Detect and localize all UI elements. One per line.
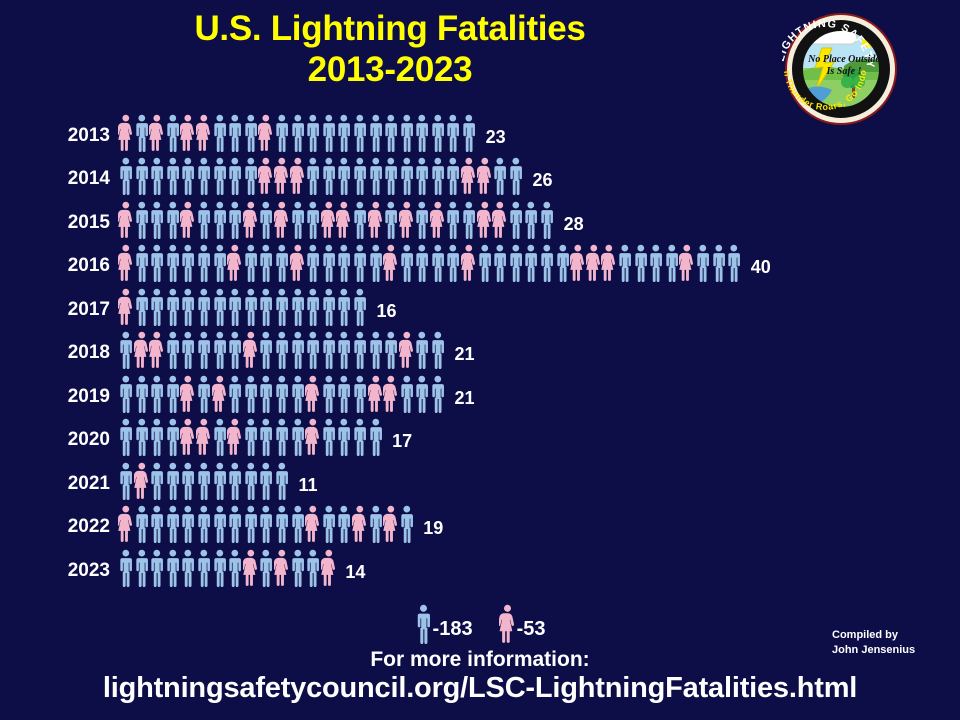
male-figure-icon bbox=[352, 114, 368, 152]
male-figure-icon bbox=[134, 549, 150, 587]
male-figure-icon bbox=[617, 244, 633, 282]
female-figure-icon bbox=[601, 244, 617, 282]
chart-row: 202219 bbox=[0, 500, 960, 544]
figure-group bbox=[118, 199, 555, 239]
male-figure-icon bbox=[258, 505, 274, 543]
male-figure-icon bbox=[134, 157, 150, 195]
male-figure-icon bbox=[118, 549, 134, 587]
male-figure-icon bbox=[695, 244, 711, 282]
male-figure-icon bbox=[149, 549, 165, 587]
female-figure-icon bbox=[461, 244, 477, 282]
row-total: 14 bbox=[336, 563, 365, 587]
male-figure-icon bbox=[258, 331, 274, 369]
male-figure-icon bbox=[321, 418, 337, 456]
male-figure-icon bbox=[227, 549, 243, 587]
male-figure-icon bbox=[165, 244, 181, 282]
male-figure-icon bbox=[274, 288, 290, 326]
figure-group bbox=[118, 547, 336, 587]
male-figure-icon bbox=[227, 331, 243, 369]
male-figure-icon bbox=[508, 157, 524, 195]
male-figure-icon bbox=[321, 288, 337, 326]
male-figure-icon bbox=[383, 331, 399, 369]
female-figure-icon bbox=[321, 201, 337, 239]
male-figure-icon bbox=[274, 462, 290, 500]
chart-row: 201528 bbox=[0, 195, 960, 239]
male-figure-icon bbox=[368, 114, 384, 152]
male-figure-icon bbox=[243, 114, 259, 152]
male-figure-icon bbox=[274, 375, 290, 413]
female-figure-icon bbox=[290, 244, 306, 282]
male-figure-icon bbox=[492, 244, 508, 282]
male-figure-icon bbox=[399, 505, 415, 543]
female-figure-icon bbox=[118, 505, 134, 543]
male-figure-icon bbox=[212, 114, 228, 152]
male-figure-icon bbox=[290, 549, 306, 587]
male-figure-icon bbox=[336, 288, 352, 326]
row-total: 21 bbox=[445, 345, 474, 369]
male-figure-icon bbox=[196, 244, 212, 282]
row-total: 28 bbox=[555, 215, 584, 239]
figure-group bbox=[118, 329, 445, 369]
male-figure-icon bbox=[726, 244, 742, 282]
male-figure-icon bbox=[243, 418, 259, 456]
male-figure-icon bbox=[633, 244, 649, 282]
female-figure-icon bbox=[227, 418, 243, 456]
male-figure-icon bbox=[227, 505, 243, 543]
male-figure-icon bbox=[430, 331, 446, 369]
male-figure-icon bbox=[118, 157, 134, 195]
male-figure-icon bbox=[196, 157, 212, 195]
male-figure-icon bbox=[414, 201, 430, 239]
website-url[interactable]: lightningsafetycouncil.org/LSC-Lightning… bbox=[0, 672, 960, 705]
male-figure-icon bbox=[305, 549, 321, 587]
chart-row: 201426 bbox=[0, 152, 960, 196]
male-figure-icon bbox=[336, 375, 352, 413]
male-figure-icon bbox=[383, 201, 399, 239]
male-figure-icon bbox=[290, 331, 306, 369]
female-figure-icon bbox=[383, 505, 399, 543]
row-total: 11 bbox=[290, 476, 318, 500]
year-label: 2019 bbox=[0, 387, 118, 413]
male-figure-icon bbox=[180, 331, 196, 369]
female-figure-icon bbox=[180, 114, 196, 152]
male-figure-icon bbox=[243, 244, 259, 282]
male-figure-icon bbox=[212, 244, 228, 282]
female-figure-icon bbox=[352, 505, 368, 543]
male-figure-icon bbox=[336, 157, 352, 195]
female-figure-icon bbox=[399, 201, 415, 239]
figure-group bbox=[118, 503, 414, 543]
female-figure-icon bbox=[258, 157, 274, 195]
male-figure-icon bbox=[212, 418, 228, 456]
male-figure-icon bbox=[134, 505, 150, 543]
year-label: 2021 bbox=[0, 474, 118, 500]
male-figure-icon bbox=[258, 244, 274, 282]
male-figure-icon bbox=[258, 375, 274, 413]
male-figure-icon bbox=[461, 114, 477, 152]
female-figure-icon bbox=[477, 201, 493, 239]
male-figure-icon bbox=[196, 288, 212, 326]
male-figure-icon bbox=[180, 157, 196, 195]
legend-item-male: -183 bbox=[415, 604, 473, 644]
male-figure-icon bbox=[399, 244, 415, 282]
female-figure-icon bbox=[274, 157, 290, 195]
female-figure-icon bbox=[477, 157, 493, 195]
male-figure-icon bbox=[290, 418, 306, 456]
male-figure-icon bbox=[290, 114, 306, 152]
row-total: 21 bbox=[445, 389, 474, 413]
male-figure-icon bbox=[539, 244, 555, 282]
male-figure-icon bbox=[134, 201, 150, 239]
female-figure-icon bbox=[118, 288, 134, 326]
male-figure-icon bbox=[430, 114, 446, 152]
female-figure-icon bbox=[679, 244, 695, 282]
chart-row: 202111 bbox=[0, 456, 960, 500]
figure-group bbox=[118, 155, 523, 195]
male-figure-icon bbox=[492, 157, 508, 195]
female-figure-icon bbox=[149, 114, 165, 152]
row-total: 23 bbox=[477, 128, 506, 152]
male-figure-icon bbox=[212, 549, 228, 587]
male-figure-icon bbox=[149, 201, 165, 239]
female-figure-icon bbox=[499, 604, 516, 644]
male-figure-icon bbox=[227, 288, 243, 326]
male-figure-icon bbox=[368, 505, 384, 543]
male-figure-icon bbox=[227, 114, 243, 152]
male-figure-icon bbox=[212, 331, 228, 369]
female-figure-icon bbox=[305, 418, 321, 456]
female-figure-icon bbox=[274, 549, 290, 587]
male-figure-icon bbox=[368, 418, 384, 456]
male-figure-icon bbox=[414, 244, 430, 282]
male-figure-icon bbox=[165, 157, 181, 195]
male-figure-icon bbox=[383, 114, 399, 152]
female-figure-icon bbox=[134, 462, 150, 500]
male-figure-icon bbox=[352, 331, 368, 369]
male-figure-icon bbox=[212, 505, 228, 543]
legend-male-label: -183 bbox=[432, 619, 473, 644]
male-figure-icon bbox=[399, 114, 415, 152]
female-figure-icon bbox=[258, 114, 274, 152]
male-figure-icon bbox=[118, 418, 134, 456]
female-figure-icon bbox=[305, 505, 321, 543]
male-figure-icon bbox=[477, 244, 493, 282]
male-figure-icon bbox=[227, 462, 243, 500]
female-figure-icon bbox=[180, 375, 196, 413]
male-figure-icon bbox=[321, 505, 337, 543]
year-label: 2015 bbox=[0, 213, 118, 239]
male-figure-icon bbox=[274, 244, 290, 282]
female-figure-icon bbox=[399, 331, 415, 369]
female-figure-icon bbox=[196, 114, 212, 152]
male-figure-icon bbox=[149, 462, 165, 500]
figure-group bbox=[118, 242, 742, 282]
male-figure-icon bbox=[430, 157, 446, 195]
male-figure-icon bbox=[180, 244, 196, 282]
male-figure-icon bbox=[445, 157, 461, 195]
male-figure-icon bbox=[336, 331, 352, 369]
male-figure-icon bbox=[305, 331, 321, 369]
male-figure-icon bbox=[321, 244, 337, 282]
male-figure-icon bbox=[352, 201, 368, 239]
year-label: 2020 bbox=[0, 430, 118, 456]
male-figure-icon bbox=[414, 157, 430, 195]
male-figure-icon bbox=[118, 375, 134, 413]
female-figure-icon bbox=[321, 549, 337, 587]
male-figure-icon bbox=[180, 549, 196, 587]
female-figure-icon bbox=[243, 201, 259, 239]
male-figure-icon bbox=[290, 288, 306, 326]
male-figure-icon bbox=[555, 244, 571, 282]
male-figure-icon bbox=[149, 375, 165, 413]
female-figure-icon bbox=[180, 201, 196, 239]
male-figure-icon bbox=[165, 418, 181, 456]
male-figure-icon bbox=[243, 462, 259, 500]
male-figure-icon bbox=[134, 375, 150, 413]
chart-row: 201716 bbox=[0, 282, 960, 326]
male-figure-icon bbox=[165, 288, 181, 326]
male-figure-icon bbox=[399, 157, 415, 195]
female-figure-icon bbox=[196, 418, 212, 456]
pictogram-chart: 2013232014262015282016402017162018212019… bbox=[0, 108, 960, 587]
male-figure-icon bbox=[196, 331, 212, 369]
male-figure-icon bbox=[414, 114, 430, 152]
female-figure-icon bbox=[212, 375, 228, 413]
male-figure-icon bbox=[290, 201, 306, 239]
male-figure-icon bbox=[227, 375, 243, 413]
female-figure-icon bbox=[368, 375, 384, 413]
male-figure-icon bbox=[321, 157, 337, 195]
year-label: 2023 bbox=[0, 561, 118, 587]
row-total: 19 bbox=[414, 519, 443, 543]
male-figure-icon bbox=[227, 157, 243, 195]
male-figure-icon bbox=[368, 331, 384, 369]
male-figure-icon bbox=[523, 244, 539, 282]
male-figure-icon bbox=[149, 244, 165, 282]
male-figure-icon bbox=[414, 331, 430, 369]
figure-group bbox=[118, 286, 368, 326]
male-figure-icon bbox=[368, 244, 384, 282]
male-figure-icon bbox=[352, 157, 368, 195]
male-figure-icon bbox=[461, 201, 477, 239]
male-figure-icon bbox=[134, 288, 150, 326]
row-total: 16 bbox=[368, 302, 397, 326]
row-total: 40 bbox=[742, 258, 771, 282]
female-figure-icon bbox=[570, 244, 586, 282]
male-figure-icon bbox=[212, 201, 228, 239]
figure-group bbox=[118, 373, 445, 413]
male-figure-icon bbox=[134, 418, 150, 456]
female-figure-icon bbox=[180, 418, 196, 456]
male-figure-icon bbox=[336, 114, 352, 152]
male-figure-icon bbox=[664, 244, 680, 282]
female-figure-icon bbox=[492, 201, 508, 239]
male-figure-icon bbox=[321, 375, 337, 413]
year-label: 2018 bbox=[0, 343, 118, 369]
female-figure-icon bbox=[461, 157, 477, 195]
female-figure-icon bbox=[586, 244, 602, 282]
male-figure-icon bbox=[196, 549, 212, 587]
male-figure-icon bbox=[227, 201, 243, 239]
female-figure-icon bbox=[336, 201, 352, 239]
female-figure-icon bbox=[274, 201, 290, 239]
male-figure-icon bbox=[212, 157, 228, 195]
male-figure-icon bbox=[149, 418, 165, 456]
male-figure-icon bbox=[243, 288, 259, 326]
row-total: 17 bbox=[383, 432, 412, 456]
chart-row: 201921 bbox=[0, 369, 960, 413]
row-total: 26 bbox=[523, 171, 552, 195]
title-line-1: U.S. Lightning Fatalities bbox=[194, 9, 585, 48]
male-figure-icon bbox=[196, 505, 212, 543]
year-label: 2022 bbox=[0, 517, 118, 543]
chart-row: 201821 bbox=[0, 326, 960, 370]
male-figure-icon bbox=[414, 375, 430, 413]
title-line-2: 2013-2023 bbox=[0, 49, 780, 90]
chart-row: 202314 bbox=[0, 543, 960, 587]
logo-inner-text-1: No Place Outside bbox=[807, 54, 880, 65]
male-figure-icon bbox=[274, 114, 290, 152]
male-figure-icon bbox=[305, 201, 321, 239]
male-figure-icon bbox=[165, 201, 181, 239]
male-figure-icon bbox=[243, 157, 259, 195]
male-figure-icon bbox=[290, 375, 306, 413]
year-label: 2016 bbox=[0, 256, 118, 282]
credit-block: Compiled by John Jensenius bbox=[832, 628, 942, 658]
male-figure-icon bbox=[243, 505, 259, 543]
male-figure-icon bbox=[336, 244, 352, 282]
male-figure-icon bbox=[430, 375, 446, 413]
chart-row: 202017 bbox=[0, 413, 960, 457]
logo-inner-text-2: Is Safe ! bbox=[825, 66, 861, 77]
male-figure-icon bbox=[352, 375, 368, 413]
male-figure-icon bbox=[445, 201, 461, 239]
male-figure-icon bbox=[180, 462, 196, 500]
female-figure-icon bbox=[305, 375, 321, 413]
male-figure-icon bbox=[274, 331, 290, 369]
male-figure-icon bbox=[134, 114, 150, 152]
female-figure-icon bbox=[383, 375, 399, 413]
male-figure-icon bbox=[383, 157, 399, 195]
male-figure-icon bbox=[165, 549, 181, 587]
male-figure-icon bbox=[274, 505, 290, 543]
year-label: 2017 bbox=[0, 300, 118, 326]
female-figure-icon bbox=[368, 201, 384, 239]
female-figure-icon bbox=[134, 331, 150, 369]
footer: For more information: lightningsafetycou… bbox=[0, 648, 960, 705]
male-figure-icon bbox=[165, 462, 181, 500]
page-title: U.S. Lightning Fatalities 2013-2023 bbox=[0, 8, 780, 91]
male-figure-icon bbox=[165, 331, 181, 369]
male-figure-icon bbox=[134, 244, 150, 282]
male-figure-icon bbox=[523, 201, 539, 239]
male-figure-icon bbox=[274, 418, 290, 456]
legend-item-female: -53 bbox=[499, 604, 546, 644]
male-figure-icon bbox=[180, 505, 196, 543]
figure-group bbox=[118, 460, 290, 500]
male-figure-icon bbox=[149, 505, 165, 543]
male-figure-icon bbox=[445, 244, 461, 282]
male-figure-icon bbox=[196, 201, 212, 239]
male-figure-icon bbox=[430, 244, 446, 282]
credit-line-1: Compiled by bbox=[832, 628, 942, 643]
male-figure-icon bbox=[305, 288, 321, 326]
male-figure-icon bbox=[118, 462, 134, 500]
male-figure-icon bbox=[180, 288, 196, 326]
male-figure-icon bbox=[165, 505, 181, 543]
male-figure-icon bbox=[352, 244, 368, 282]
female-figure-icon bbox=[118, 201, 134, 239]
female-figure-icon bbox=[243, 549, 259, 587]
year-label: 2014 bbox=[0, 169, 118, 195]
male-figure-icon bbox=[196, 462, 212, 500]
male-figure-icon bbox=[149, 157, 165, 195]
male-figure-icon bbox=[415, 604, 432, 644]
chart-row: 201640 bbox=[0, 239, 960, 283]
male-figure-icon bbox=[648, 244, 664, 282]
female-figure-icon bbox=[430, 201, 446, 239]
male-figure-icon bbox=[258, 201, 274, 239]
male-figure-icon bbox=[258, 418, 274, 456]
male-figure-icon bbox=[212, 462, 228, 500]
male-figure-icon bbox=[165, 114, 181, 152]
male-figure-icon bbox=[352, 288, 368, 326]
male-figure-icon bbox=[399, 375, 415, 413]
male-figure-icon bbox=[711, 244, 727, 282]
male-figure-icon bbox=[445, 114, 461, 152]
credit-line-2: John Jensenius bbox=[832, 643, 942, 658]
male-figure-icon bbox=[305, 114, 321, 152]
legend-female-label: -53 bbox=[516, 619, 546, 644]
male-figure-icon bbox=[258, 288, 274, 326]
infographic-root: U.S. Lightning Fatalities 2013-2023 bbox=[0, 0, 960, 720]
male-figure-icon bbox=[243, 375, 259, 413]
male-figure-icon bbox=[321, 331, 337, 369]
figure-group bbox=[118, 416, 383, 456]
male-figure-icon bbox=[539, 201, 555, 239]
male-figure-icon bbox=[336, 505, 352, 543]
female-figure-icon bbox=[118, 114, 134, 152]
male-figure-icon bbox=[352, 418, 368, 456]
female-figure-icon bbox=[243, 331, 259, 369]
male-figure-icon bbox=[149, 288, 165, 326]
male-figure-icon bbox=[305, 157, 321, 195]
year-label: 2013 bbox=[0, 126, 118, 152]
male-figure-icon bbox=[196, 375, 212, 413]
male-figure-icon bbox=[508, 201, 524, 239]
female-figure-icon bbox=[118, 244, 134, 282]
male-figure-icon bbox=[321, 114, 337, 152]
male-figure-icon bbox=[305, 244, 321, 282]
male-figure-icon bbox=[212, 288, 228, 326]
male-figure-icon bbox=[258, 462, 274, 500]
male-figure-icon bbox=[336, 418, 352, 456]
male-figure-icon bbox=[290, 505, 306, 543]
male-figure-icon bbox=[368, 157, 384, 195]
male-figure-icon bbox=[165, 375, 181, 413]
female-figure-icon bbox=[149, 331, 165, 369]
chart-legend: -183 -53 bbox=[0, 604, 960, 644]
male-figure-icon bbox=[118, 331, 134, 369]
female-figure-icon bbox=[227, 244, 243, 282]
female-figure-icon bbox=[383, 244, 399, 282]
figure-group bbox=[118, 112, 477, 152]
chart-row: 201323 bbox=[0, 108, 960, 152]
male-figure-icon bbox=[258, 549, 274, 587]
male-figure-icon bbox=[508, 244, 524, 282]
more-info-label: For more information: bbox=[0, 648, 960, 671]
female-figure-icon bbox=[290, 157, 306, 195]
